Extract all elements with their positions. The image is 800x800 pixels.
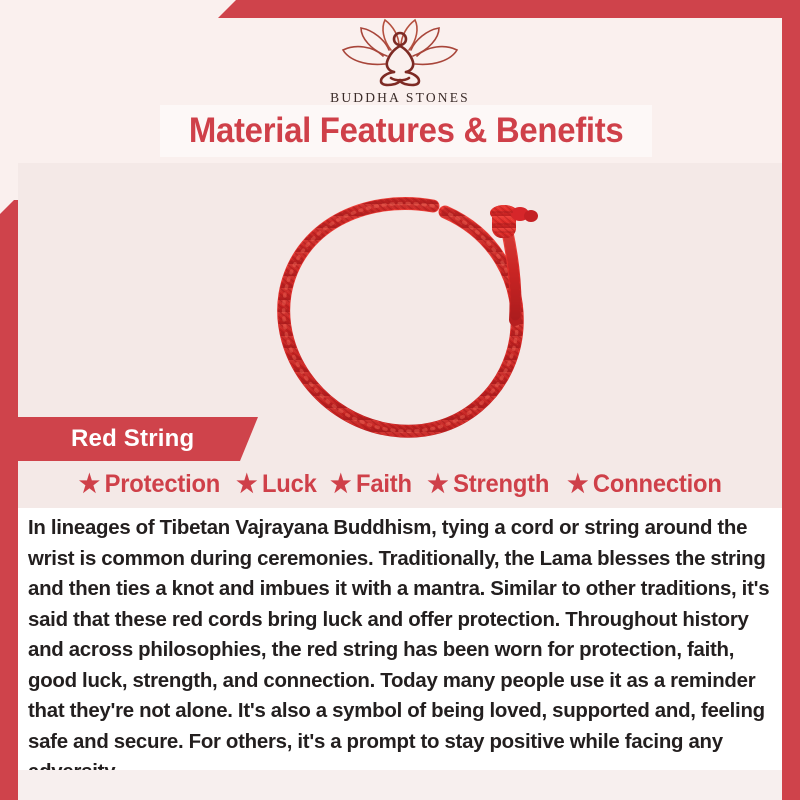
- feature-label: Faith: [356, 470, 412, 499]
- feature-item-faith: ★ Faith: [326, 470, 417, 499]
- star-icon: ★: [236, 472, 257, 497]
- description-panel: In lineages of Tibetan Vajrayana Buddhis…: [18, 508, 782, 770]
- star-icon: ★: [330, 472, 351, 497]
- bracelet-knot: [490, 205, 538, 238]
- description-text: In lineages of Tibetan Vajrayana Buddhis…: [28, 513, 772, 788]
- feature-label: Strength: [453, 470, 549, 499]
- page-title-box: Material Features & Benefits: [160, 105, 652, 157]
- feature-label: Luck: [261, 470, 316, 499]
- feature-keywords-row: ★ Protection ★ Luck ★ Faith ★ Strength ★…: [18, 463, 782, 505]
- star-icon: ★: [78, 472, 99, 497]
- feature-label: Protection: [104, 470, 220, 499]
- lotus-meditation-icon: [325, 16, 475, 88]
- bottom-strip: [18, 770, 782, 800]
- feature-item-luck: ★ Luck: [231, 470, 321, 499]
- brand-logo: BUDDHA STONES: [0, 16, 800, 106]
- brand-wordmark: BUDDHA STONES: [330, 90, 470, 106]
- infographic-page: BUDDHA STONES Material Features & Benefi…: [0, 0, 800, 800]
- product-image: [245, 168, 585, 463]
- feature-item-strength: ★ Strength: [423, 470, 554, 499]
- feature-item-protection: ★ Protection: [74, 470, 225, 499]
- feature-label: Connection: [593, 470, 722, 499]
- star-icon: ★: [567, 472, 588, 497]
- product-name-banner: Red String: [18, 417, 258, 461]
- page-title: Material Features & Benefits: [189, 111, 624, 151]
- red-braided-string-bracelet-illustration: [245, 168, 585, 463]
- star-icon: ★: [427, 472, 448, 497]
- right-red-band: [782, 0, 800, 800]
- left-red-band: [0, 200, 18, 800]
- feature-item-connection: ★ Connection: [562, 470, 726, 499]
- product-name-label: Red String: [71, 425, 194, 453]
